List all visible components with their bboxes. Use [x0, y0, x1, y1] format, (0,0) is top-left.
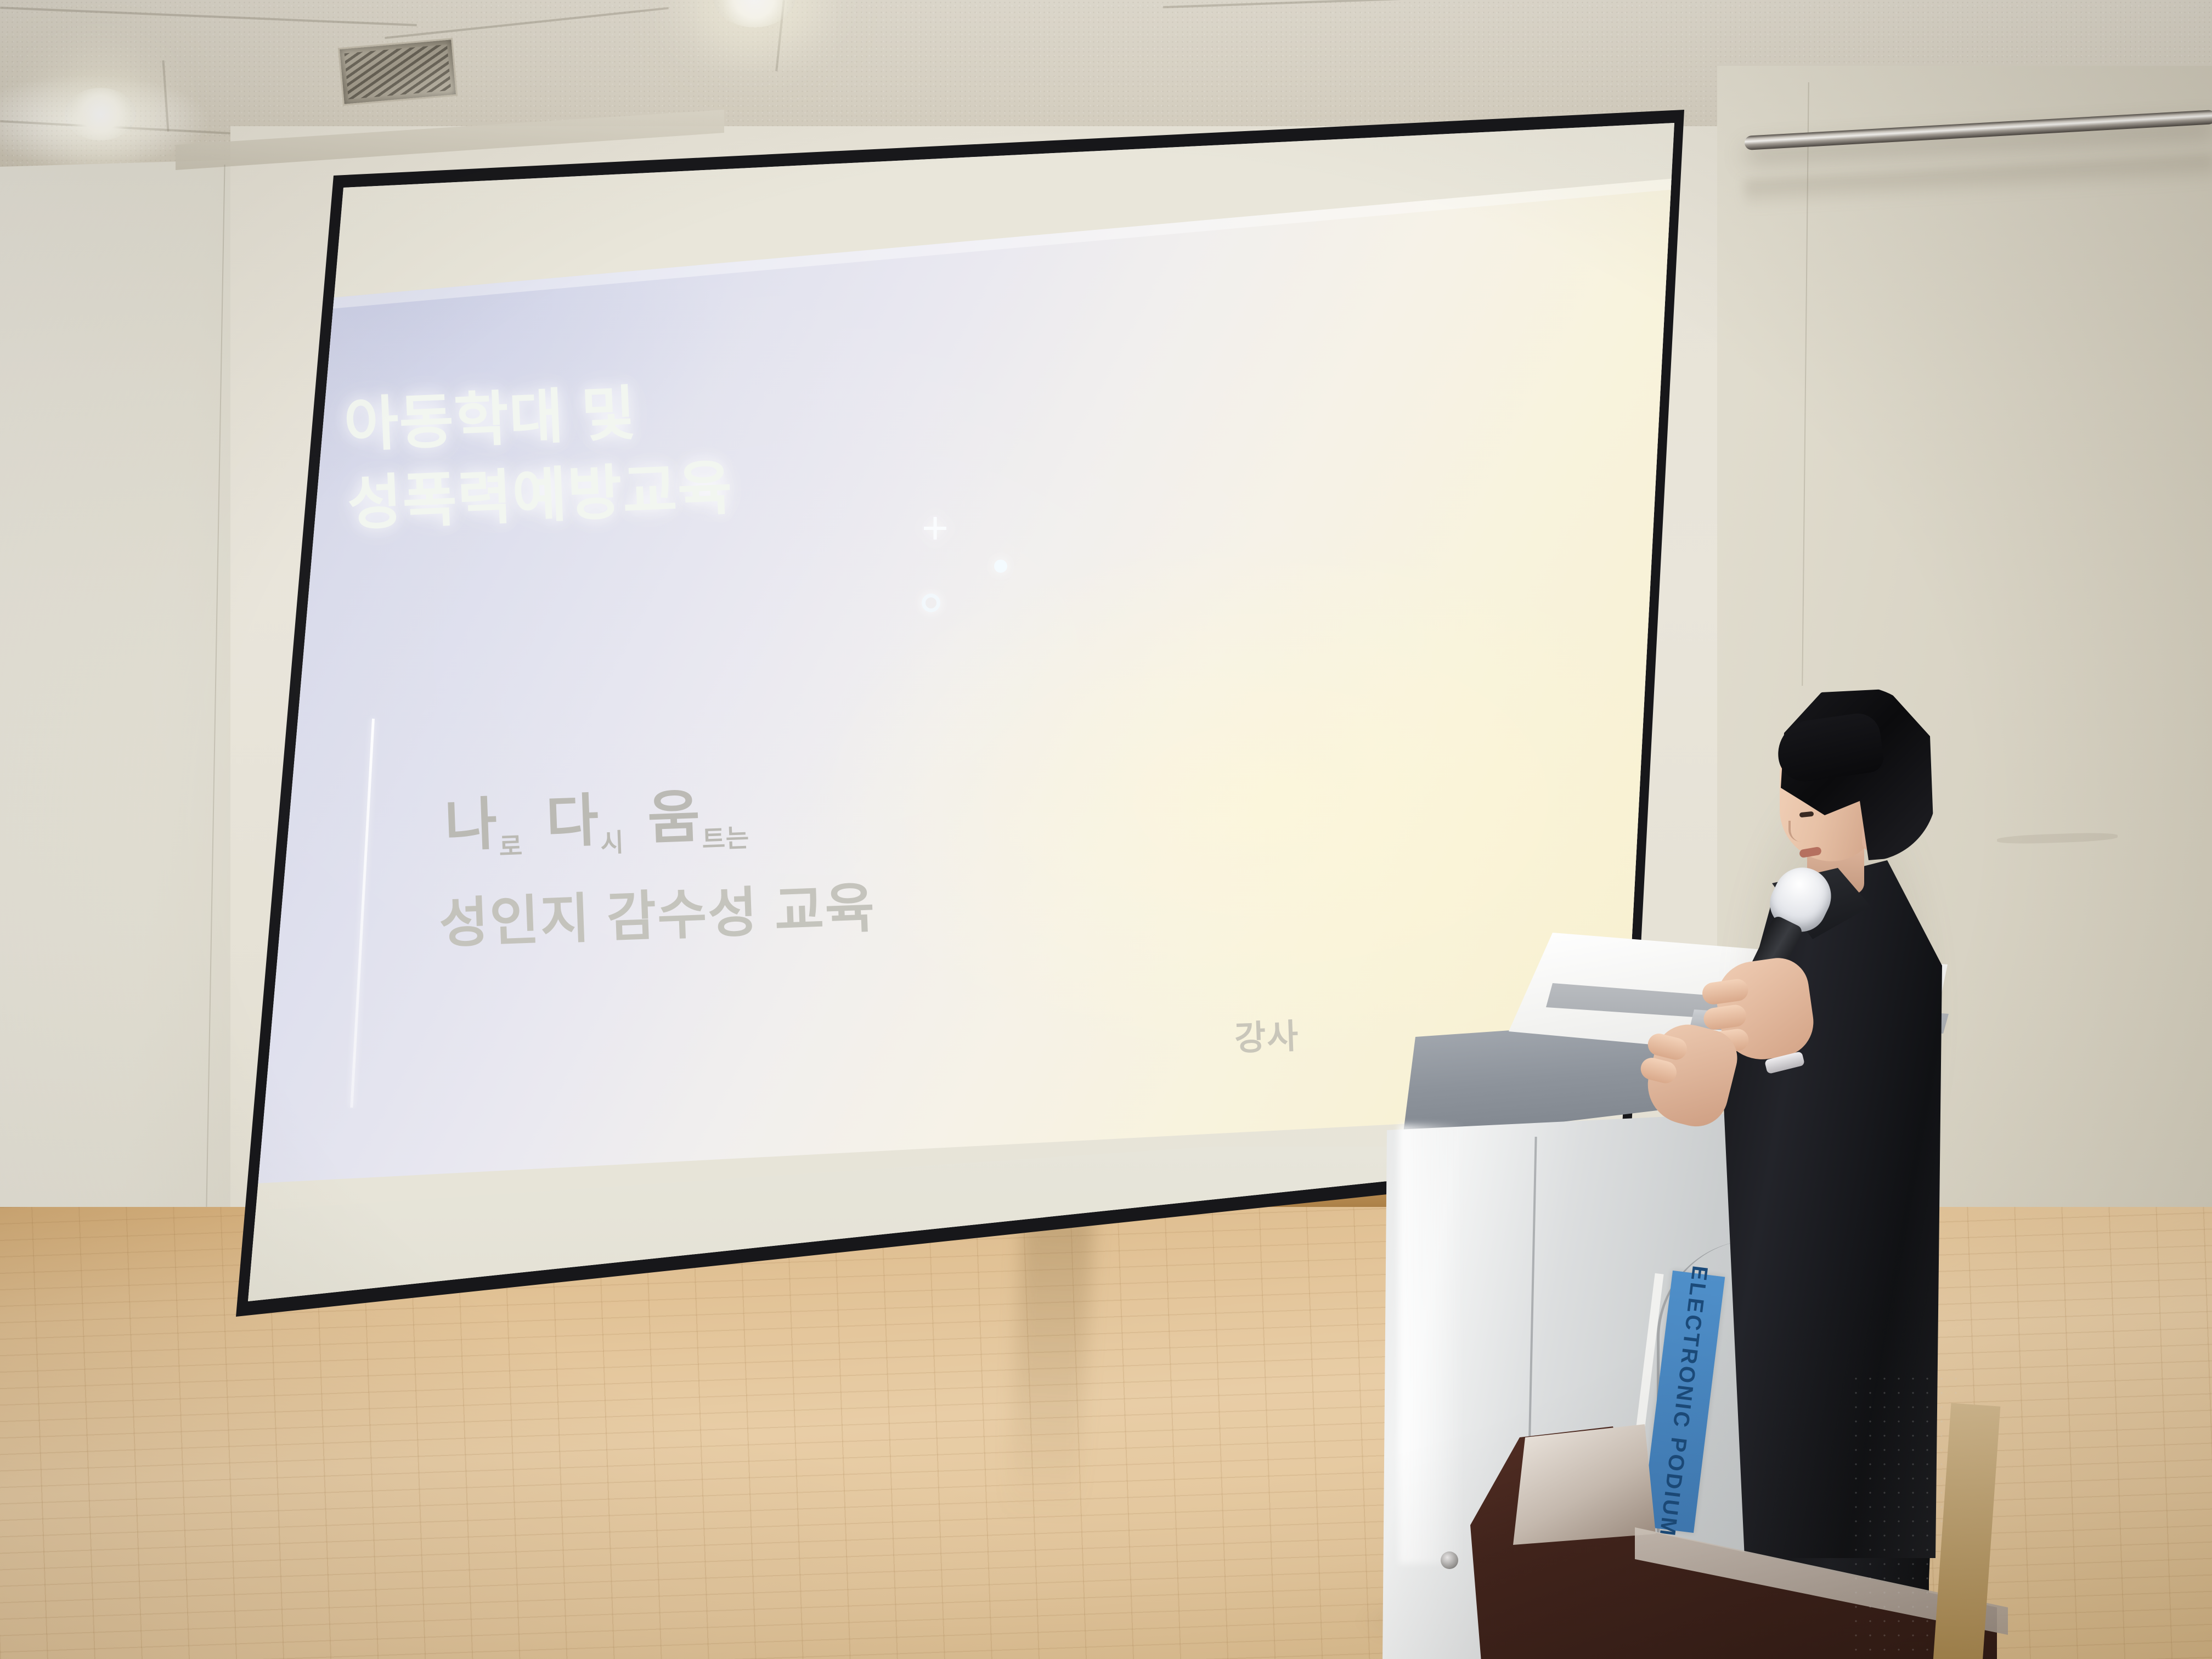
dot-ring-icon: [922, 594, 940, 612]
slide-subtitle: 나로다시움트는: [443, 768, 750, 862]
recessed-downlight: [65, 88, 136, 140]
bench-end-cap: [1513, 1424, 1656, 1545]
bench-mounting-screw: [1441, 1551, 1458, 1569]
speaker-finger: [1701, 978, 1750, 1006]
speaker-eye: [1799, 811, 1814, 818]
subtitle-part-small: 로: [499, 832, 523, 861]
speaker-head: [1772, 686, 1937, 867]
speaker-nose: [1788, 821, 1803, 842]
speaker-finger: [1702, 1003, 1748, 1031]
dot-solid-icon: [994, 560, 1007, 573]
subtitle-part-big: 나: [443, 793, 499, 859]
hvac-ceiling-vent: [338, 38, 458, 106]
slide-byline: 강사: [1233, 1008, 1300, 1060]
subtitle-part-big: 움: [646, 785, 702, 851]
subtitle-part-small: 시: [600, 828, 625, 857]
subtitle-part-big: 다: [545, 789, 601, 855]
sparkle-plus-icon: +: [922, 505, 949, 551]
photo-canvas: 아동학대 및 성폭력예방교육 + 나로다시움트는 성인지 감수성 교육 강사: [0, 0, 2212, 1659]
speaker-mouth: [1799, 847, 1822, 859]
left-wall: [0, 159, 258, 1234]
subtitle-part-small: 트는: [702, 823, 750, 854]
slide-title: 아동학대 및 성폭력예방교육: [342, 370, 734, 543]
slide-subtitle-line2: 성인지 감수성 교육: [438, 864, 877, 958]
